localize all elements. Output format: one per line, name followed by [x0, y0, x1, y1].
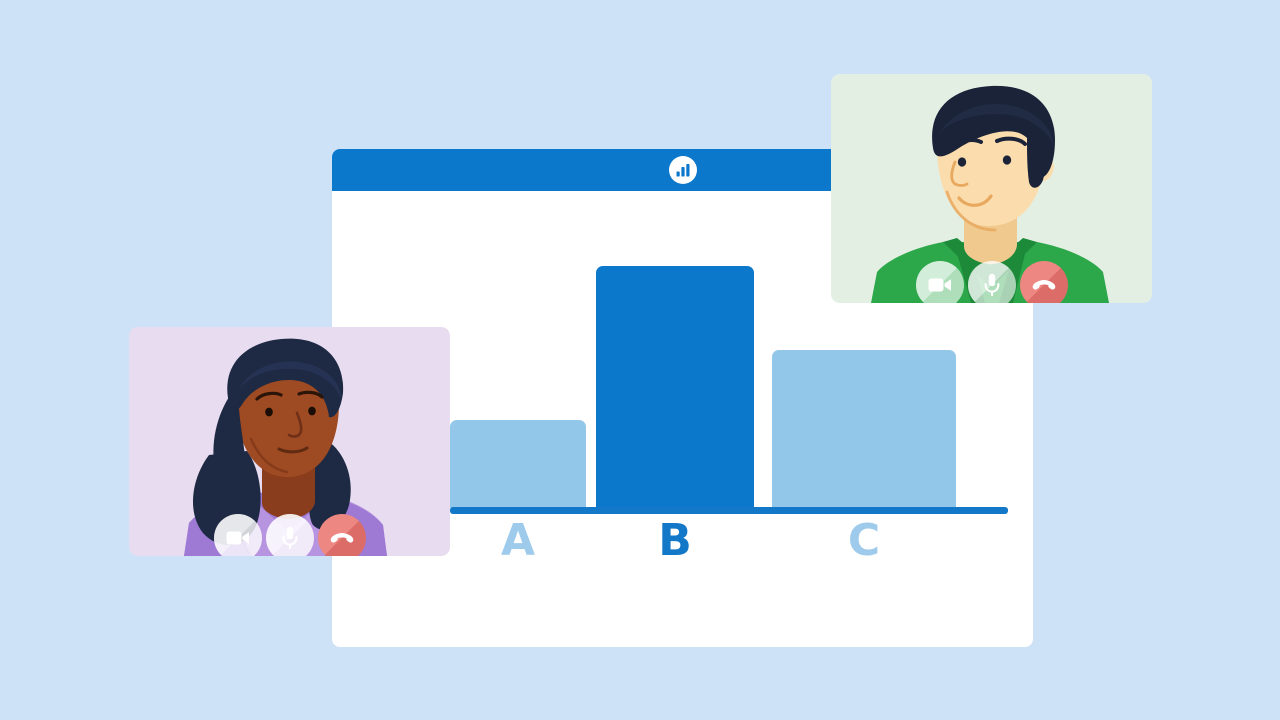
call-controls-left	[214, 514, 366, 556]
category-label-c: C	[824, 519, 904, 563]
end-call-icon[interactable]	[1020, 261, 1068, 303]
chart-axis-line	[450, 507, 1008, 514]
call-controls-right	[916, 261, 1068, 303]
video-tile-man[interactable]	[831, 74, 1152, 303]
microphone-icon[interactable]	[266, 514, 314, 556]
bar-c[interactable]	[772, 350, 956, 508]
illustration-canvas: A B C	[0, 0, 1280, 720]
category-label-a: A	[478, 519, 558, 563]
video-tile-woman[interactable]	[129, 327, 450, 556]
camera-icon[interactable]	[916, 261, 964, 303]
end-call-icon[interactable]	[318, 514, 366, 556]
microphone-icon[interactable]	[968, 261, 1016, 303]
bar-b[interactable]	[596, 266, 754, 508]
category-label-b: B	[635, 519, 715, 563]
bar-chart-icon	[669, 156, 697, 184]
bar-a[interactable]	[450, 420, 586, 508]
camera-icon[interactable]	[214, 514, 262, 556]
